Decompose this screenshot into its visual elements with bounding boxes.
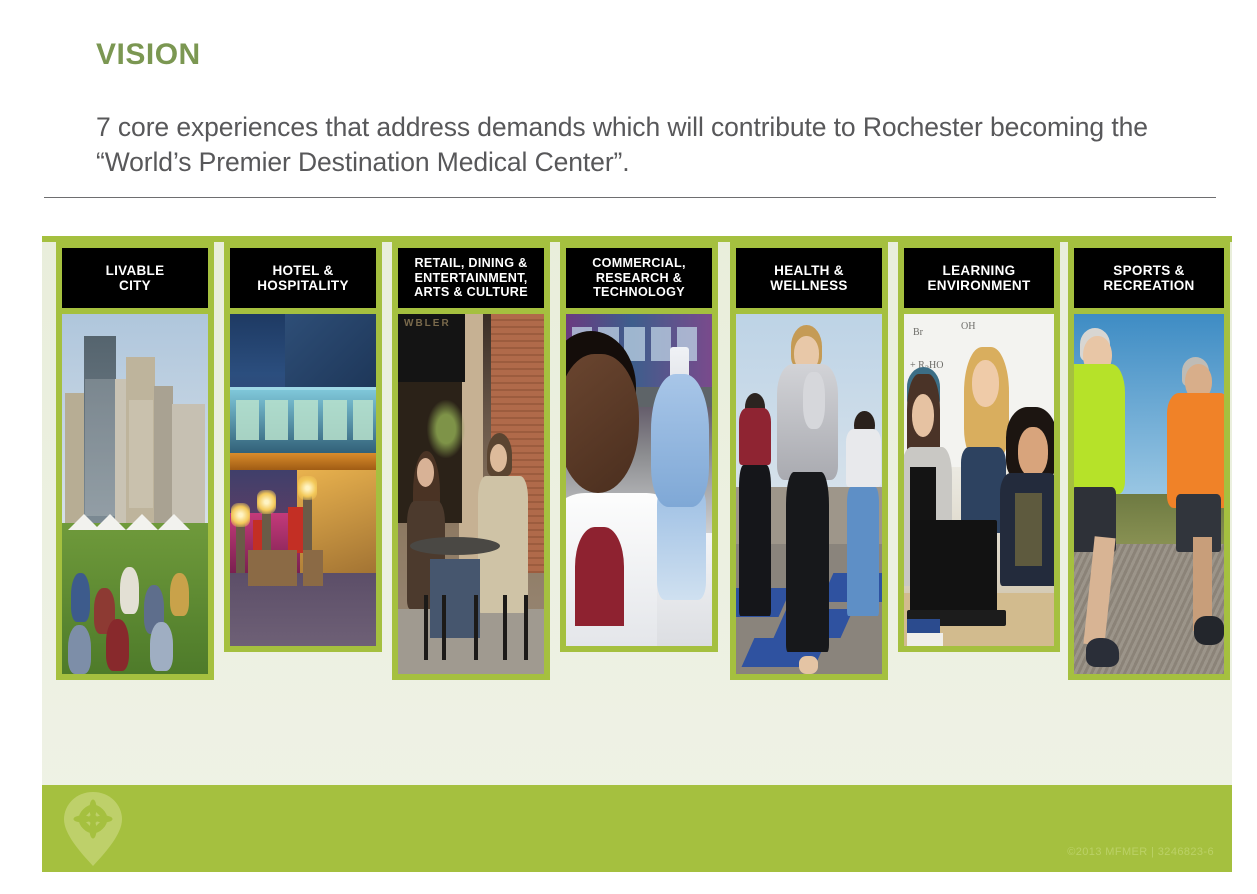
- experience-card-retail-dining[interactable]: RETAIL, DINING & ENTERTAINMENT, ARTS & C…: [392, 242, 550, 680]
- page-title: VISION: [96, 38, 201, 72]
- card-photo-retail-dining: WBLER: [398, 314, 544, 674]
- card-caption-sports-recreation: SPORTS & RECREATION: [1074, 248, 1224, 308]
- experience-card-learning-environment[interactable]: LEARNING ENVIRONMENT Br + R2HO OH: [898, 242, 1060, 652]
- slide: VISION 7 core experiences that address d…: [0, 0, 1257, 894]
- card-caption-livable-city: LIVABLE CITY: [62, 248, 208, 308]
- experience-card-livable-city[interactable]: LIVABLE CITY: [56, 242, 214, 680]
- experience-card-sports-recreation[interactable]: SPORTS & RECREATION: [1068, 242, 1230, 680]
- card-photo-commercial-research: [566, 314, 712, 646]
- card-photo-livable-city: [62, 314, 208, 674]
- card-caption-learning-environment: LEARNING ENVIRONMENT: [904, 248, 1054, 308]
- experience-card-hotel-hospitality[interactable]: HOTEL & HOSPITALITY: [224, 242, 382, 652]
- footer-band: ©2013 MFMER | 3246823-6: [42, 785, 1232, 872]
- card-caption-retail-dining: RETAIL, DINING & ENTERTAINMENT, ARTS & C…: [398, 248, 544, 308]
- card-photo-sports-recreation: [1074, 314, 1224, 674]
- experience-card-commercial-research[interactable]: COMMERCIAL, RESEARCH & TECHNOLOGY: [560, 242, 718, 652]
- card-caption-hotel-hospitality: HOTEL & HOSPITALITY: [230, 248, 376, 308]
- card-photo-learning-environment: Br + R2HO OH: [904, 314, 1054, 646]
- experience-card-health-wellness[interactable]: HEALTH & WELLNESS: [730, 242, 888, 680]
- card-photo-hotel-hospitality: [230, 314, 376, 646]
- card-photo-health-wellness: [736, 314, 882, 674]
- page-subtitle: 7 core experiences that address demands …: [96, 110, 1216, 180]
- card-caption-commercial-research: COMMERCIAL, RESEARCH & TECHNOLOGY: [566, 248, 712, 308]
- card-caption-health-wellness: HEALTH & WELLNESS: [736, 248, 882, 308]
- header-divider: [44, 197, 1216, 198]
- slide-header: VISION 7 core experiences that address d…: [0, 0, 1257, 205]
- dmc-pin-logo-icon: [62, 790, 124, 868]
- copyright-text: ©2013 MFMER | 3246823-6: [1067, 846, 1214, 858]
